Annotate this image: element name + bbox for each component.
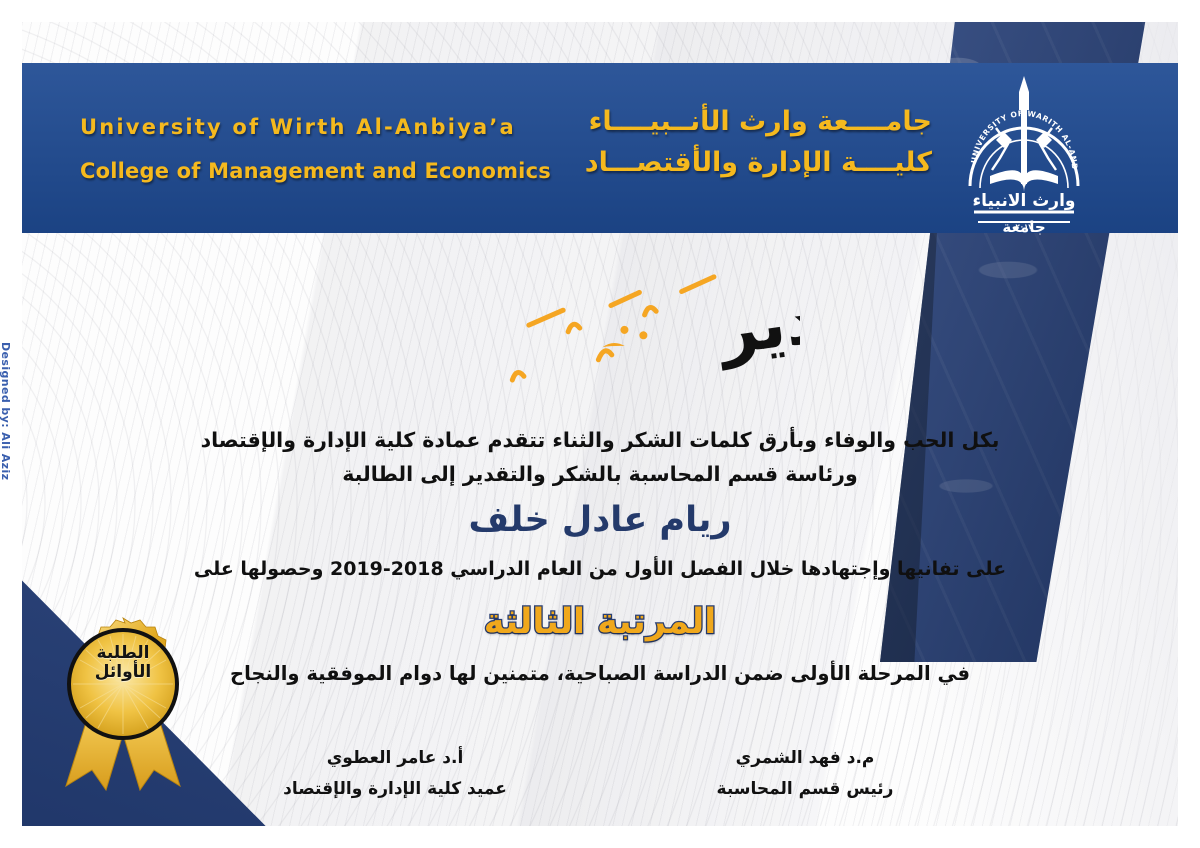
signature-right-name: م.د فهد الشمري bbox=[655, 748, 955, 768]
logo-ring-text: UNIVERSITY OF WARITH AL-ANBIYA’A bbox=[960, 66, 1079, 170]
signature-block-left: أ.د عامر العطوي عميد كلية الإدارة والإقت… bbox=[245, 748, 545, 799]
header-arabic-block: جامــــعة وارث الأنــبيــــاء كليــــة ا… bbox=[585, 106, 932, 178]
signature-left-name: أ.د عامر العطوي bbox=[245, 748, 545, 768]
medal-text: الطلبة الأوائل bbox=[48, 644, 198, 682]
college-name-arabic: كليــــة الإدارة والأقتصـــاد bbox=[585, 147, 932, 178]
logo-year-text: ٢٠١٧ bbox=[1015, 223, 1033, 231]
body-line-2: ورئاسة قسم المحاسبة بالشكر والتقدير إلى … bbox=[150, 462, 1050, 486]
medal-line-2: الأوائل bbox=[48, 663, 198, 682]
rank-text: المرتبة الثالثة bbox=[150, 602, 1050, 642]
body-line-1: بكل الحب والوفاء وبأرق كلمات الشكر والثن… bbox=[150, 428, 1050, 452]
svg-text:UNIVERSITY OF WARITH AL-ANBIYA: UNIVERSITY OF WARITH AL-ANBIYA’A bbox=[960, 66, 1079, 170]
recipient-name: ريام عادل خلف bbox=[150, 500, 1050, 540]
certificate-page: University of Wirth Al-Anbiya’a College … bbox=[0, 0, 1200, 848]
signature-block-right: م.د فهد الشمري رئيس قسم المحاسبة bbox=[655, 748, 955, 799]
logo-arabic-text: وارث الانبياء bbox=[972, 191, 1075, 211]
university-name-english: University of Wirth Al-Anbiya’a bbox=[80, 115, 560, 139]
university-name-arabic: جامــــعة وارث الأنــبيــــاء bbox=[585, 106, 932, 137]
body-line-3: على تفانيها وإجتهادها خلال الفصل الأول م… bbox=[150, 558, 1050, 580]
header-english-block: University of Wirth Al-Anbiya’a College … bbox=[80, 115, 560, 183]
university-logo: UNIVERSITY OF WARITH AL-ANBIYA’A وارث ال… bbox=[960, 66, 1088, 244]
title-calligraphy-main: شهادة شكر وتقدير bbox=[711, 262, 800, 372]
body-line-4: في المرحلة الأولى ضمن الدراسة الصباحية، … bbox=[150, 662, 1050, 685]
title-gold-accents bbox=[502, 277, 724, 380]
college-name-english: College of Management and Economics bbox=[80, 159, 560, 183]
title-gold-marks bbox=[600, 323, 648, 349]
signature-right-role: رئيس قسم المحاسبة bbox=[655, 779, 955, 799]
signature-left-role: عميد كلية الإدارة والإقتصاد bbox=[245, 779, 545, 799]
designer-credit: Designed by: Ali Aziz bbox=[0, 342, 12, 480]
certificate-title: شهادة شكر وتقدير bbox=[420, 262, 800, 422]
gold-medal-seal: الطلبة الأوائل bbox=[48, 608, 198, 794]
medal-line-1: الطلبة bbox=[48, 644, 198, 663]
